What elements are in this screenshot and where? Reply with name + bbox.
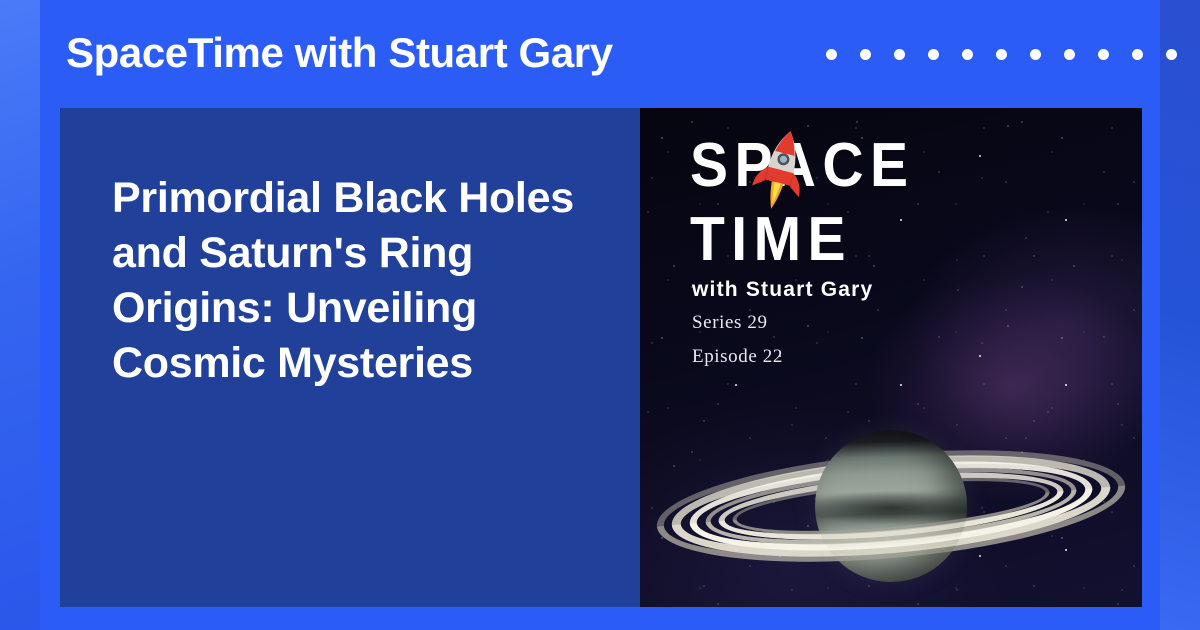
dot-decoration: [826, 49, 1177, 60]
dot: [1030, 49, 1041, 60]
dot: [894, 49, 905, 60]
podcast-title: SpaceTime with Stuart Gary: [66, 29, 613, 77]
share-card-canvas: SpaceTime with Stuart Gary Primordial Bl…: [0, 0, 1200, 630]
logo-byline: with Stuart Gary: [692, 278, 873, 302]
dot: [928, 49, 939, 60]
cover-series-label: Series 29: [692, 312, 768, 334]
dot: [962, 49, 973, 60]
episode-title: Primordial Black Holes and Saturn's Ring…: [112, 171, 632, 391]
dot: [860, 49, 871, 60]
dot: [1166, 49, 1177, 60]
header-bar: SpaceTime with Stuart Gary: [0, 0, 1200, 108]
logo-byline-prefix: with: [692, 278, 739, 301]
dot: [1132, 49, 1143, 60]
dot: [996, 49, 1007, 60]
logo-byline-name: Stuart Gary: [746, 278, 874, 301]
logo-word-time: TIME: [690, 204, 852, 275]
dot: [1098, 49, 1109, 60]
rocket-icon: [752, 126, 810, 212]
dot: [826, 49, 837, 60]
spacetime-logo: SPACE TIME wi: [640, 108, 1142, 408]
podcast-cover-art: SPACE TIME wi: [640, 108, 1142, 607]
dot: [1064, 49, 1075, 60]
cover-episode-label: Episode 22: [692, 346, 783, 368]
episode-card: Primordial Black Holes and Saturn's Ring…: [60, 108, 1142, 607]
episode-text-panel: Primordial Black Holes and Saturn's Ring…: [60, 108, 640, 607]
